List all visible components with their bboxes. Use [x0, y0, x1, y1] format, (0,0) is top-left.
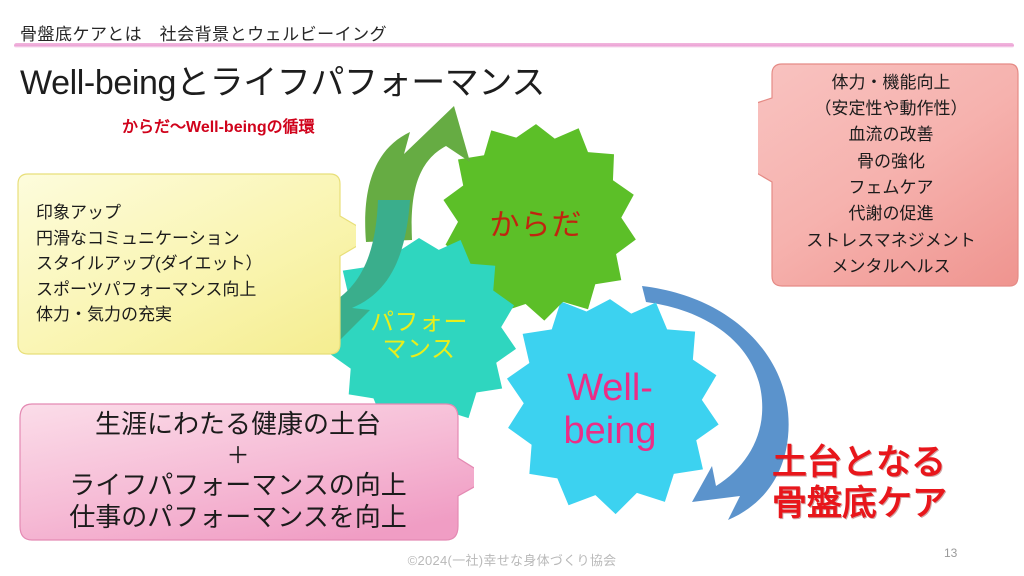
callout-performance-benefits-text: 印象アップ 円滑なコミュニケーション スタイルアップ(ダイエット） スポーツパフ… [14, 172, 356, 356]
page-subtitle: からだ〜Well-beingの循環 [122, 113, 315, 137]
slide-canvas: 骨盤底ケアとは 社会背景とウェルビーイング Well-beingとライフパフォー… [0, 0, 1024, 576]
callout-line: メンタルヘルス [832, 254, 951, 280]
copyright-note: ©2024(一社)幸せな身体づくり協会 [0, 550, 1024, 569]
callout-wellbeing-outcome: 生涯にわたる健康の土台 ＋ ライフパフォーマンスの向上 仕事のパフォーマンスを向… [14, 400, 474, 544]
callout-performance-benefits: 印象アップ 円滑なコミュニケーション スタイルアップ(ダイエット） スポーツパフ… [14, 172, 356, 356]
callout-line: 仕事のパフォーマンスを向上 [69, 501, 406, 533]
callout-line: ＋ [227, 441, 250, 470]
callout-line: フェムケア [849, 175, 934, 201]
callout-line: 骨の強化 [857, 149, 925, 175]
callout-line: 円滑なコミュニケーション [36, 226, 240, 252]
emphasis-text: 土台となる 骨盤底ケア [772, 442, 947, 525]
header-divider [14, 43, 1014, 48]
callout-line: 血流の改善 [849, 122, 934, 148]
emphasis-line: 骨盤底ケア [772, 483, 947, 524]
callout-line: ライフパフォーマンスの向上 [69, 469, 406, 501]
callout-line: 生涯にわたる健康の土台 [95, 408, 381, 440]
callout-line: スタイルアップ(ダイエット） [36, 251, 263, 277]
callout-body-benefits: 体力・機能向上 （安定性や動作性） 血流の改善 骨の強化 フェムケア 代謝の促進… [758, 62, 1020, 288]
callout-line: ストレスマネジメント [806, 228, 976, 254]
callout-line: スポーツパフォーマンス向上 [36, 277, 256, 303]
emphasis-line: 土台となる [772, 442, 947, 483]
callout-line: 代謝の促進 [849, 201, 934, 227]
breadcrumb: 骨盤底ケアとは 社会背景とウェルビーイング [20, 20, 387, 45]
callout-line: 印象アップ [36, 200, 121, 226]
callout-line: 体力・機能向上 [832, 70, 951, 96]
callout-body-benefits-text: 体力・機能向上 （安定性や動作性） 血流の改善 骨の強化 フェムケア 代謝の促進… [758, 62, 1020, 288]
callout-line: （安定性や動作性） [815, 96, 968, 122]
callout-line: 体力・気力の充実 [36, 302, 172, 328]
gear-wellbeing[interactable]: Well- being [498, 298, 722, 522]
callout-wellbeing-outcome-text: 生涯にわたる健康の土台 ＋ ライフパフォーマンスの向上 仕事のパフォーマンスを向… [14, 400, 474, 544]
